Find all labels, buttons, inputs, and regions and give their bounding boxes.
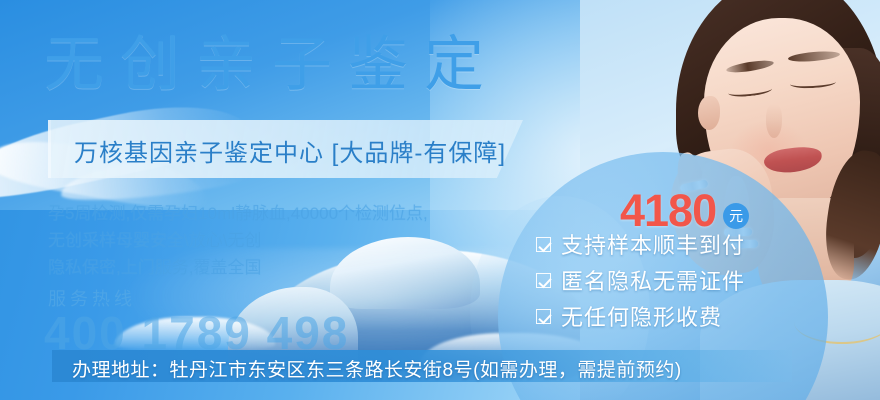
brand-name: 万核基因亲子鉴定中心 [大品牌-有保障] — [74, 133, 506, 168]
address-text: 办理地址：牡丹江市东安区东三条路长安街8号(如需办理，需提前预约) — [72, 355, 682, 382]
list-item: 匿名隐私无需证件 — [536, 262, 745, 298]
feature-line: 孕5周检测,仅需孕妇10ml静脉血,40000个检测位点, — [48, 200, 408, 227]
benefits-checklist: 支持样本顺丰到付 匿名隐私无需证件 无任何隐形收费 — [536, 226, 745, 334]
feature-line: 无创采样母婴安全\放心\无创 — [48, 227, 408, 254]
list-item: 无任何隐形收费 — [536, 298, 745, 334]
check-icon — [536, 237, 551, 252]
feature-copy-block: 孕5周检测,仅需孕妇10ml静脉血,40000个检测位点, 无创采样母婴安全\放… — [48, 200, 408, 281]
benefit-label: 匿名隐私无需证件 — [561, 264, 745, 296]
check-icon — [536, 309, 551, 324]
advertisement-banner: 无创亲子鉴定 万核基因亲子鉴定中心 [大品牌-有保障] 孕5周检测,仅需孕妇10… — [0, 0, 880, 400]
check-icon — [536, 273, 551, 288]
benefit-label: 支持样本顺丰到付 — [561, 228, 745, 260]
model-ear — [698, 96, 720, 130]
headline: 无创亲子鉴定 — [44, 16, 500, 103]
feature-line: 隐私保密,上门服务,覆盖全国 — [48, 254, 408, 281]
benefit-label: 无任何隐形收费 — [561, 300, 722, 332]
model-nose — [766, 104, 782, 138]
list-item: 支持样本顺丰到付 — [536, 226, 745, 262]
